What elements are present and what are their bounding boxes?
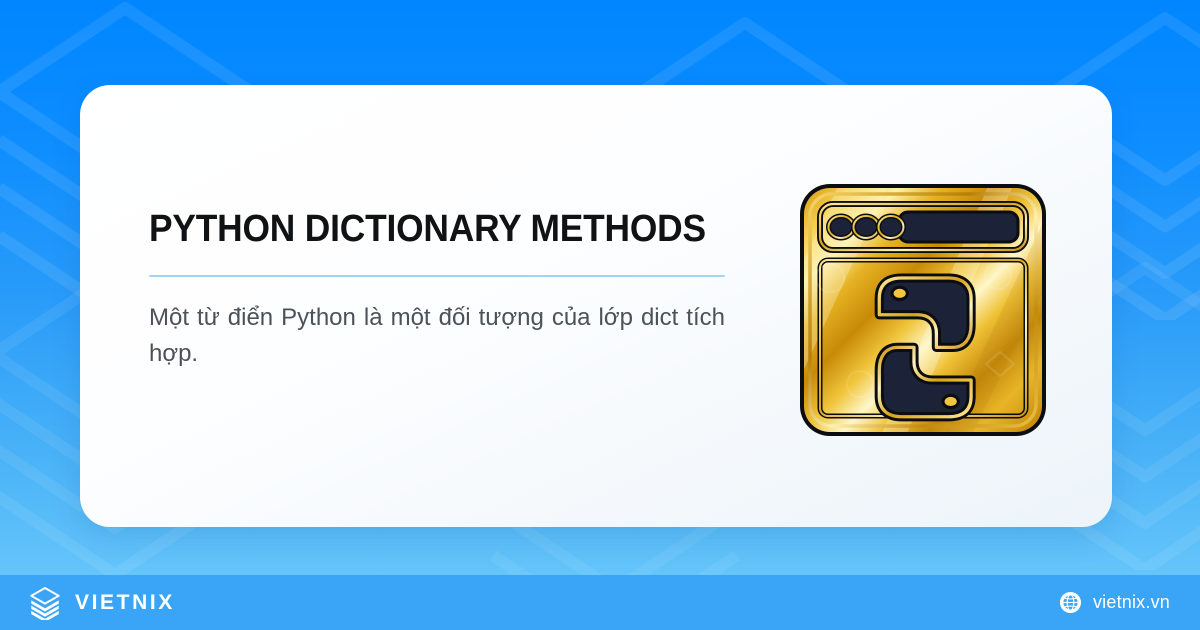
brand-name: VIETNIX — [75, 591, 175, 615]
site-url-lockup[interactable]: vietnix.vn — [1059, 591, 1170, 614]
globe-icon — [1059, 591, 1082, 614]
gold-python-browser-window-icon — [790, 178, 1056, 450]
brand-lockup[interactable]: VIETNIX — [28, 586, 175, 620]
window-dots — [829, 216, 904, 238]
page-title: PYTHON DICTIONARY METHODS — [149, 210, 685, 250]
page-subtitle: Một từ điển Python là một đối tượng của … — [149, 300, 725, 373]
vietnix-stack-logo-icon — [28, 586, 62, 620]
title-divider — [149, 275, 725, 277]
site-url-text: vietnix.vn — [1093, 592, 1170, 613]
footer-bar: VIETNIX vietnix.vn — [0, 575, 1200, 630]
text-column: PYTHON DICTIONARY METHODS Một từ điển Py… — [149, 210, 725, 373]
content-card: PYTHON DICTIONARY METHODS Một từ điển Py… — [80, 85, 1112, 527]
